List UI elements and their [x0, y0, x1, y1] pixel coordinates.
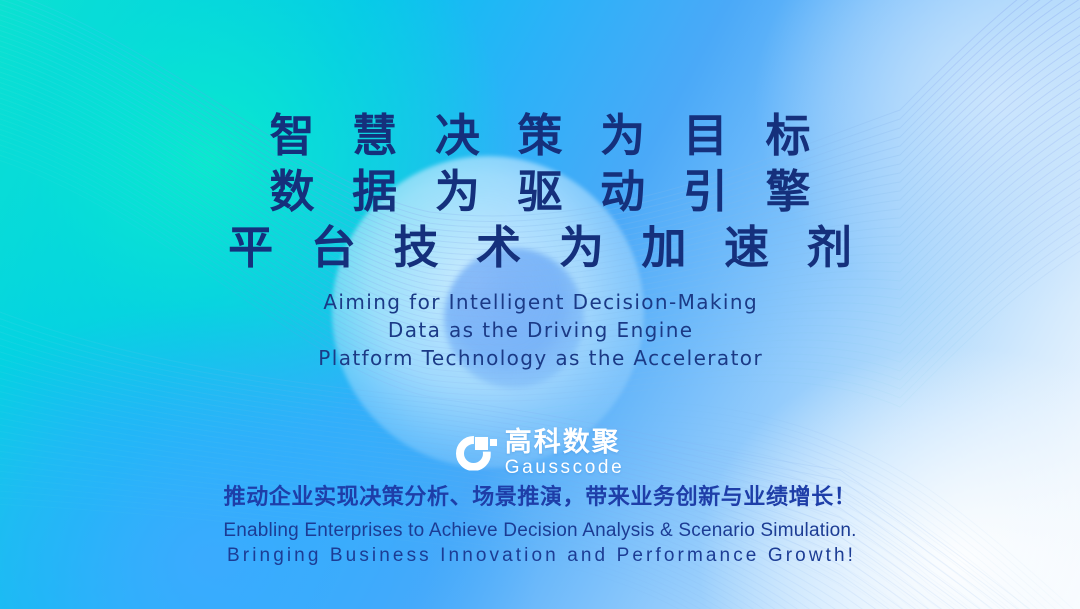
headline-line-2: 数 据 为 驱 动 引 擎: [0, 164, 1080, 220]
subtitle-line-1: Aiming for Intelligent Decision-Making: [0, 288, 1080, 316]
subtitle-line-2: Data as the Driving Engine: [0, 316, 1080, 344]
headline-block: 智 慧 决 策 为 目 标 数 据 为 驱 动 引 擎 平 台 技 术 为 加 …: [0, 108, 1080, 276]
logo-square-small: [490, 439, 497, 446]
headline-line-3: 平 台 技 术 为 加 速 剂: [0, 220, 1080, 276]
footer-tagline-en-line-2: Bringing Business Innovation and Perform…: [0, 543, 1080, 569]
banner-content: 智 慧 决 策 为 目 标 数 据 为 驱 动 引 擎 平 台 技 术 为 加 …: [0, 0, 1080, 609]
brand-logo: 高科数聚 Gausscode: [0, 428, 1080, 479]
logo-square-large: [475, 437, 488, 450]
brand-logo-text: 高科数聚 Gausscode: [505, 428, 625, 479]
footer-tagline-en-block: Enabling Enterprises to Achieve Decision…: [0, 518, 1080, 569]
gausscode-logo-mark-icon: [456, 434, 496, 474]
headline-line-1: 智 慧 决 策 为 目 标: [0, 108, 1080, 164]
footer-tagline-en-line-1: Enabling Enterprises to Achieve Decision…: [0, 518, 1080, 543]
subtitle-block: Aiming for Intelligent Decision-Making D…: [0, 288, 1080, 372]
subtitle-line-3: Platform Technology as the Accelerator: [0, 344, 1080, 372]
brand-name-en: Gausscode: [505, 457, 625, 479]
brand-name-cn: 高科数聚: [505, 428, 621, 457]
footer-tagline-cn: 推动企业实现决策分析、场景推演，带来业务创新与业绩增长！: [0, 483, 1080, 513]
promotional-banner: 智 慧 决 策 为 目 标 数 据 为 驱 动 引 擎 平 台 技 术 为 加 …: [0, 0, 1080, 609]
